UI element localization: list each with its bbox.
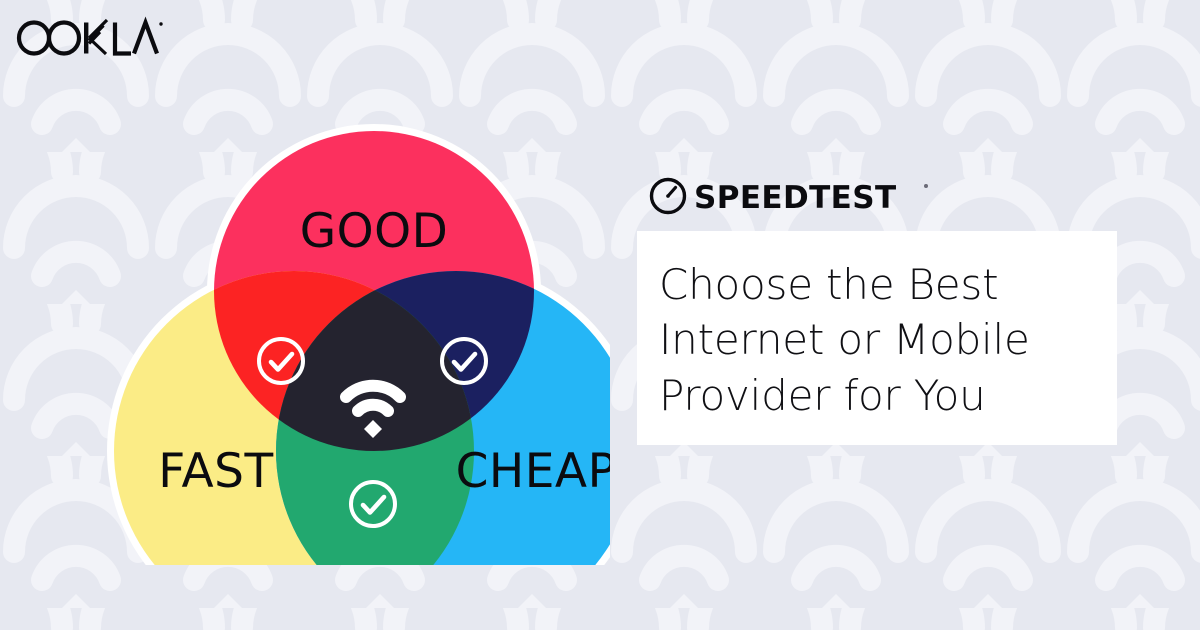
- speedtest-logo: SPEEDTEST: [648, 174, 938, 218]
- venn-label-fast: FAST: [158, 444, 273, 499]
- page-title: Choose the Best Internet or Mobile Provi…: [659, 257, 1087, 423]
- headline-card: Choose the Best Internet or Mobile Provi…: [637, 231, 1117, 445]
- promo-graphic: OOKLA: [0, 0, 1200, 630]
- venn-diagram: GOOD FAST CHEAP: [50, 55, 610, 565]
- registered-mark-icon: [924, 184, 928, 188]
- venn-label-cheap: CHEAP: [456, 444, 610, 499]
- speedtest-logo-text: SPEEDTEST: [694, 180, 897, 216]
- registered-mark-icon: [159, 22, 162, 25]
- speedometer-icon: [652, 180, 685, 213]
- venn-label-good: GOOD: [300, 204, 449, 259]
